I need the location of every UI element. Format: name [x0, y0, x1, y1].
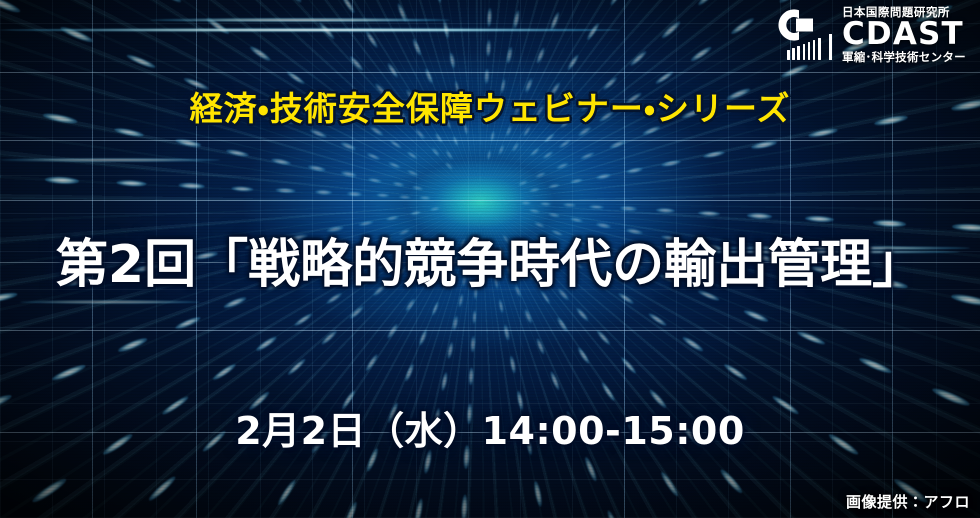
webinar-banner: 日本国際問題研究所 CDAST 軍縮･科学技術センター 経済・技術安全保障ウェビ…: [0, 0, 980, 518]
page-title: 第2回「戦略的競争時代の輸出管理」: [0, 222, 980, 297]
logo-brand-name: CDAST: [842, 19, 964, 50]
logo-divider-bar: [829, 34, 832, 60]
cdast-logo: 日本国際問題研究所 CDAST 軍縮･科学技術センター: [769, 6, 966, 64]
cdast-c-barcode-logo-icon: [769, 6, 833, 64]
logo-center-name: 軍縮･科学技術センター: [842, 52, 966, 64]
event-datetime: 2月2日（水）14:00-15:00: [0, 400, 980, 455]
series-title: 経済・技術安全保障ウェビナー・シリーズ: [0, 82, 980, 130]
image-credit: 画像提供：アフロ: [846, 491, 970, 512]
logo-barcode-bars: [787, 38, 821, 60]
